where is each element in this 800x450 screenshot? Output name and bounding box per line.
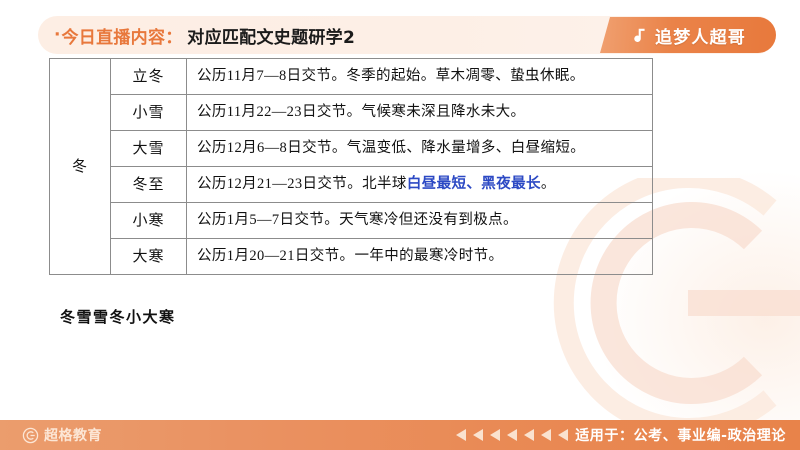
left-arrow-icon	[490, 429, 500, 441]
term-cell: 小雪	[111, 95, 187, 131]
description-text: 公历11月22—23日交节。气候寒未深且降水未大。	[197, 104, 525, 120]
left-arrow-icon	[456, 429, 466, 441]
description-text: 公历1月20—21日交节。一年中的最寒冷时节。	[197, 248, 503, 264]
description-cell: 公历12月6—8日交节。气温变低、降水量增多、白昼缩短。	[187, 131, 653, 167]
description-text: 公历11月7—8日交节。冬季的起始。草木凋零、蛰虫休眠。	[197, 68, 585, 84]
table-row: 小雪 公历11月22—23日交节。气候寒未深且降水未大。	[50, 95, 653, 131]
header-label: 今日直播内容	[61, 23, 165, 48]
description-text: 公历12月6—8日交节。气温变低、降水量增多、白昼缩短。	[197, 140, 585, 156]
solar-terms-table: 冬 立冬 公历11月7—8日交节。冬季的起始。草木凋零、蛰虫休眠。 小雪 公历1…	[49, 58, 653, 275]
description-cell: 公历12月21—23日交节。北半球白昼最短、黑夜最长。	[187, 167, 653, 203]
slide-canvas: · 今日直播内容 ： 对应匹配文史题研学2 追梦人超哥 冬 立冬 公历11月7—…	[0, 0, 800, 450]
term-cell: 立冬	[111, 59, 187, 95]
description-cell: 公历11月22—23日交节。气候寒未深且降水未大。	[187, 95, 653, 131]
header-colon: ：	[165, 23, 182, 48]
description-cell: 公历11月7—8日交节。冬季的起始。草木凋零、蛰虫休眠。	[187, 59, 653, 95]
streamer-badge-text: 追梦人超哥	[655, 23, 746, 48]
chaoge-g-logo-icon	[22, 427, 39, 444]
brand-logo: 超格教育	[22, 425, 102, 445]
table-row: 大寒 公历1月20—21日交节。一年中的最寒冷时节。	[50, 239, 653, 275]
left-arrow-icon	[473, 429, 483, 441]
header-bullet: ·	[54, 27, 60, 44]
table-row: 冬至 公历12月21—23日交节。北半球白昼最短、黑夜最长。	[50, 167, 653, 203]
header-title: · 今日直播内容 ： 对应匹配文史题研学2	[54, 16, 355, 54]
footer-tagline: 适用于：公考、事业编-政治理论	[575, 425, 786, 445]
term-cell: 小寒	[111, 203, 187, 239]
streamer-badge-content: 追梦人超哥	[600, 17, 776, 53]
mnemonic-line: 冬雪雪冬小大寒	[60, 306, 176, 327]
description-cell: 公历1月20—21日交节。一年中的最寒冷时节。	[187, 239, 653, 275]
footer-right-group: 适用于：公考、事业编-政治理论	[456, 425, 786, 445]
left-arrow-icon	[541, 429, 551, 441]
table-row: 大雪 公历12月6—8日交节。气温变低、降水量增多、白昼缩短。	[50, 131, 653, 167]
arrow-group-icon	[456, 429, 568, 441]
description-cell: 公历1月5—7日交节。天气寒冷但还没有到极点。	[187, 203, 653, 239]
term-cell: 冬至	[111, 167, 187, 203]
description-highlight: 白昼最短、黑夜最长	[407, 176, 541, 192]
solar-terms-table-body: 冬 立冬 公历11月7—8日交节。冬季的起始。草木凋零、蛰虫休眠。 小雪 公历1…	[50, 59, 653, 275]
left-arrow-icon	[558, 429, 568, 441]
season-cell: 冬	[50, 59, 111, 275]
header-topic: 对应匹配文史题研学2	[187, 23, 355, 48]
table-row: 小寒 公历1月5—7日交节。天气寒冷但还没有到极点。	[50, 203, 653, 239]
description-text-tail: 。	[541, 176, 556, 192]
term-cell: 大寒	[111, 239, 187, 275]
left-arrow-icon	[507, 429, 517, 441]
streamer-badge[interactable]: 追梦人超哥	[600, 17, 776, 53]
description-text: 公历1月5—7日交节。天气寒冷但还没有到极点。	[197, 212, 518, 228]
table-row: 冬 立冬 公历11月7—8日交节。冬季的起始。草木凋零、蛰虫休眠。	[50, 59, 653, 95]
description-text: 公历12月21—23日交节。北半球	[197, 176, 407, 192]
music-note-icon	[630, 26, 649, 45]
footer-bar: 超格教育 适用于：公考、事业编-政治理论	[0, 420, 800, 450]
brand-logo-text: 超格教育	[44, 425, 102, 445]
left-arrow-icon	[524, 429, 534, 441]
term-cell: 大雪	[111, 131, 187, 167]
